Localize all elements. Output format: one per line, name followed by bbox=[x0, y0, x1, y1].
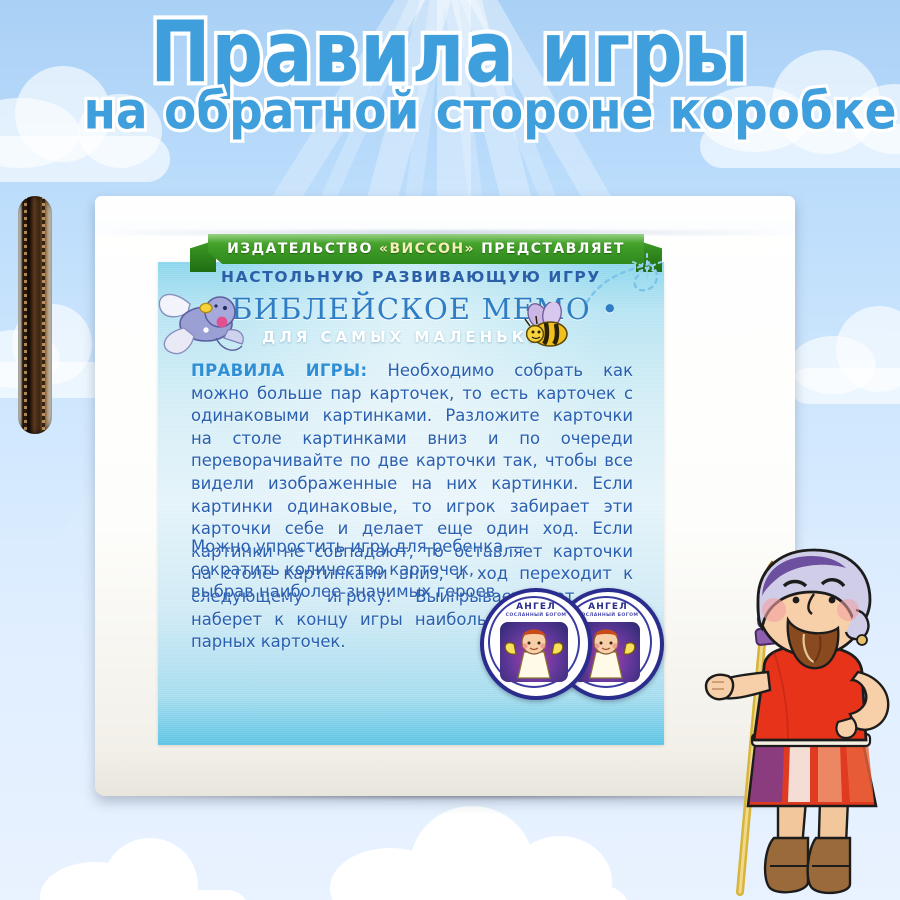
memo-card-label: АНГЕЛ bbox=[484, 602, 588, 612]
angel-illustration bbox=[500, 622, 568, 682]
memo-card-sublabel: СОСЛАННЫЙ БОГОМ bbox=[484, 613, 588, 618]
rules-lead-label: ПРАВИЛА ИГРЫ: bbox=[191, 361, 367, 380]
game-audience-subtitle: ДЛЯ САМЫХ МАЛЕНЬКИХ bbox=[158, 328, 664, 346]
screenshot-root: Правила игры на обратной стороне коробке… bbox=[0, 0, 900, 900]
publisher-banner: ИЗДАТЕЛЬСТВО «ВИССОН» ПРЕДСТАВЛЯЕТ bbox=[208, 234, 644, 264]
card-slot-icon bbox=[18, 196, 52, 434]
roman-soldier-icon bbox=[700, 548, 900, 900]
game-type-subtitle: НАСТОЛЬНУЮ РАЗВИВАЮЩУЮ ИГРУ bbox=[158, 268, 664, 286]
banner-suffix: ПРЕДСТАВЛЯЕТ bbox=[475, 241, 625, 257]
publisher-banner-text: ИЗДАТЕЛЬСТВО «ВИССОН» ПРЕДСТАВЛЯЕТ bbox=[227, 241, 625, 257]
banner-publisher-name: «ВИССОН» bbox=[379, 241, 475, 257]
banner-prefix: ИЗДАТЕЛЬСТВО bbox=[227, 241, 379, 257]
box-front-panel: ИЗДАТЕЛЬСТВО «ВИССОН» ПРЕДСТАВЛЯЕТ НАСТО… bbox=[158, 262, 664, 745]
rules-paragraph-2: Можно упростить игру для ребенка — сокра… bbox=[191, 536, 531, 604]
memo-card-angel-1[interactable]: АНГЕЛ СОСЛАННЫЙ БОГОМ bbox=[480, 588, 592, 700]
game-box[interactable]: ИЗДАТЕЛЬСТВО «ВИССОН» ПРЕДСТАВЛЯЕТ НАСТО… bbox=[95, 196, 795, 796]
game-title: • БИБЛЕЙСКОЕ МЕМО • bbox=[158, 292, 664, 326]
